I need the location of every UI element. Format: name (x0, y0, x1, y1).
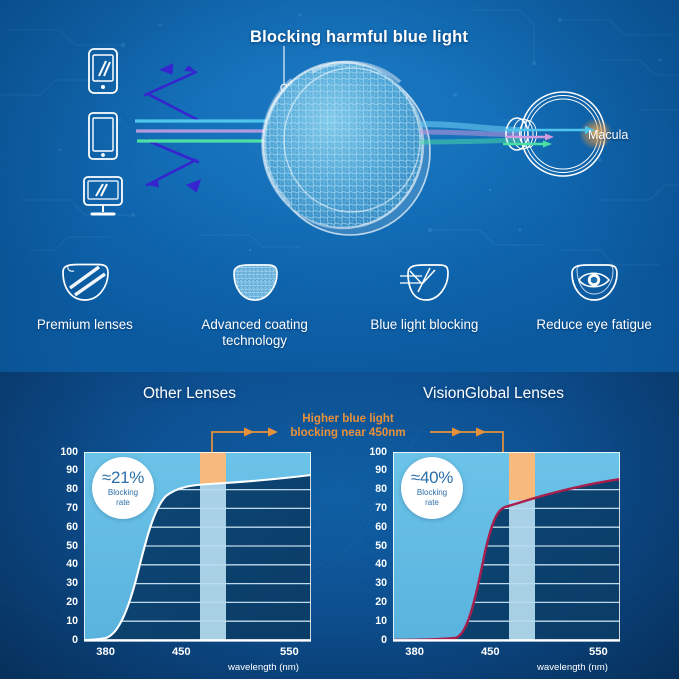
y-axis-tick: 40 (56, 558, 78, 570)
x-axis-lines (0, 638, 679, 650)
macula-label: Macula (588, 128, 628, 142)
blocking-rate-badge-right: ≈40% Blocking rate (401, 457, 463, 519)
chart-title-left: Other Lenses (143, 385, 236, 403)
premium-lens-icon (58, 258, 112, 308)
x-axis-label-left: wavelength (nm) (228, 662, 299, 673)
y-axis-tick: 10 (365, 615, 387, 627)
infographic-root: Blocking harmful blue light (0, 0, 679, 679)
blueblock-lens-icon (396, 258, 452, 308)
feature-label: Advanced coating technology (201, 317, 307, 348)
feature-item-blue-light-blocking[interactable]: Blue light blocking (340, 258, 510, 353)
y-axis-tick: 80 (56, 483, 78, 495)
x-axis-label-right: wavelength (nm) (537, 662, 608, 673)
y-axis-tick: 50 (56, 540, 78, 552)
y-axis-tick: 10 (56, 615, 78, 627)
blocking-rate-value: ≈40% (411, 469, 453, 487)
highlight-orange-right (509, 452, 535, 500)
blocking-rate-value: ≈21% (102, 469, 144, 487)
feature-label: Premium lenses (37, 317, 133, 333)
y-axis-tick: 100 (365, 446, 387, 458)
y-axis-tick: 60 (56, 521, 78, 533)
light-ray-diagram (0, 0, 679, 260)
blocking-rate-caption: Blocking rate (108, 488, 138, 506)
blocking-rate-caption: Blocking rate (417, 488, 447, 506)
chart-title-right: VisionGlobal Lenses (423, 385, 564, 403)
y-axis-tick: 30 (365, 577, 387, 589)
y-axis-tick: 20 (365, 596, 387, 608)
y-axis-tick: 80 (365, 483, 387, 495)
y-axis-tick: 90 (365, 464, 387, 476)
feature-item-advanced-coating[interactable]: Advanced coating technology (170, 258, 340, 353)
highlight-orange-left (200, 452, 226, 484)
y-axis-tick: 90 (56, 464, 78, 476)
feature-label: Reduce eye fatigue (536, 317, 651, 333)
feature-item-premium-lenses[interactable]: Premium lenses (0, 258, 170, 353)
y-axis-tick: 20 (56, 596, 78, 608)
y-axis-tick: 50 (365, 540, 387, 552)
feature-row: Premium lenses Advanced coating technolo… (0, 258, 679, 353)
y-axis-tick: 70 (365, 502, 387, 514)
blocking-rate-badge-left: ≈21% Blocking rate (92, 457, 154, 519)
y-axis-tick: 100 (56, 446, 78, 458)
y-axis-tick: 40 (365, 558, 387, 570)
coating-lens-icon (228, 258, 282, 308)
eye-lens-icon (566, 258, 622, 308)
feature-label: Blue light blocking (370, 317, 478, 333)
y-axis-tick: 70 (56, 502, 78, 514)
y-axis-tick: 60 (365, 521, 387, 533)
feature-item-reduce-eye-fatigue[interactable]: Reduce eye fatigue (509, 258, 679, 353)
y-axis-tick: 30 (56, 577, 78, 589)
